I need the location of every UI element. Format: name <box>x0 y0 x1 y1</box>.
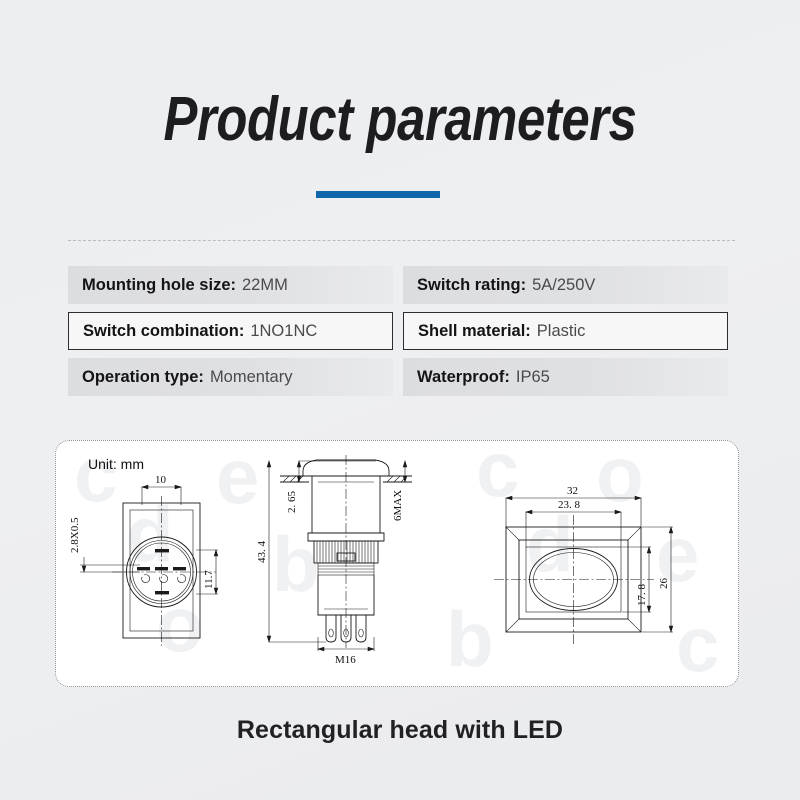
spec-key: Operation type: <box>82 368 204 387</box>
spec-key: Waterproof: <box>417 368 510 387</box>
spec-value: 22MM <box>242 276 288 295</box>
spec-key: Shell material: <box>418 322 531 341</box>
dim-32: 32 <box>567 485 578 497</box>
dim-6max: 6MAX <box>392 490 404 521</box>
spec-list: Mounting hole size: 22MM Switch rating: … <box>68 266 728 396</box>
spec-value: 5A/250V <box>532 276 595 295</box>
view-front: 32 23. 8 17. 8 <box>494 485 673 645</box>
spec-key: Switch combination: <box>83 322 244 341</box>
drawing-caption: Rectangular head with LED <box>0 716 800 745</box>
svg-text:o: o <box>596 441 644 518</box>
svg-text:c: c <box>476 441 519 513</box>
dim-2-8x0-5: 2.8X0.5 <box>69 517 81 553</box>
dim-11-7: 11.7 <box>203 570 215 589</box>
technical-drawing-svg: .ln{stroke:#1a1a1a;stroke-width:0.9;fill… <box>56 441 737 685</box>
dim-2-65: 2. 65 <box>286 491 298 514</box>
dim-10: 10 <box>155 474 167 486</box>
spec-key: Switch rating: <box>417 276 526 295</box>
page-title: Product parameters <box>72 84 728 155</box>
spec-row-switch-combination: Switch combination: 1NO1NC <box>68 312 393 350</box>
technical-drawing-panel: .ln{stroke:#1a1a1a;stroke-width:0.9;fill… <box>55 440 739 687</box>
svg-text:b: b <box>446 595 494 683</box>
product-parameters-page: Product parameters Mounting hole size: 2… <box>0 0 800 800</box>
dim-m16: M16 <box>335 654 356 666</box>
svg-text:c: c <box>74 441 117 518</box>
svg-text:c: c <box>676 600 719 685</box>
unit-label: Unit: mm <box>88 456 144 472</box>
spec-row-switch-rating: Switch rating: 5A/250V <box>403 266 728 304</box>
spec-value: Momentary <box>210 368 293 387</box>
svg-text:d: d <box>526 500 574 588</box>
dim-17-8: 17. 8 <box>636 584 648 607</box>
spec-key: Mounting hole size: <box>82 276 236 295</box>
watermark: c d o e b c d o e b c <box>74 441 719 685</box>
dim-23-8: 23. 8 <box>558 499 581 511</box>
spec-row-mounting-hole-size: Mounting hole size: 22MM <box>68 266 393 304</box>
spec-value: IP65 <box>516 368 550 387</box>
spec-value: 1NO1NC <box>250 322 317 341</box>
svg-text:e: e <box>216 441 259 520</box>
spec-row-operation-type: Operation type: Momentary <box>68 358 393 396</box>
spec-value: Plastic <box>537 322 586 341</box>
spec-row-waterproof: Waterproof: IP65 <box>403 358 728 396</box>
spec-row-shell-material: Shell material: Plastic <box>403 312 728 350</box>
section-divider <box>68 240 735 241</box>
dim-26: 26 <box>658 578 670 590</box>
title-accent-bar <box>316 191 440 198</box>
dim-43-4: 43. 4 <box>256 541 268 564</box>
